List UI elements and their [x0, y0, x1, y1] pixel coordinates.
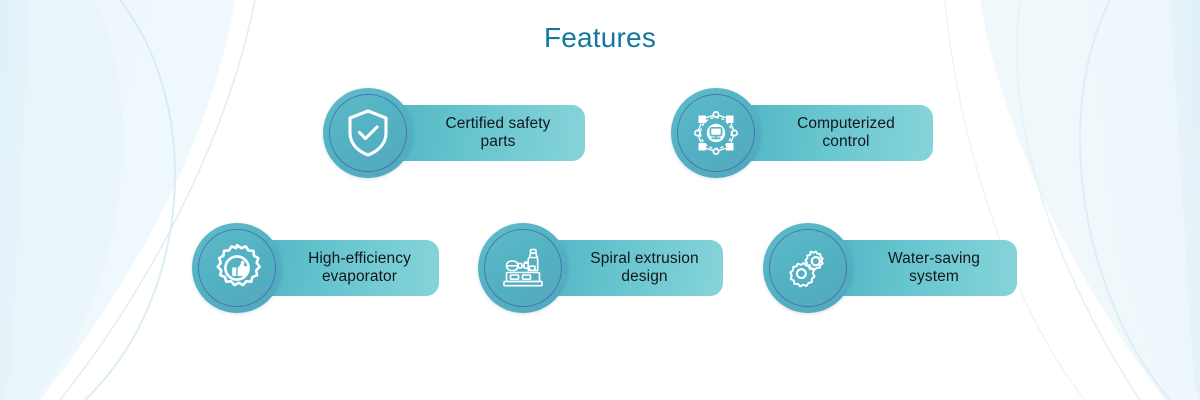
feature-label: Certified safety parts — [446, 115, 551, 152]
feature-label: Spiral extrusion design — [590, 250, 698, 287]
background-waves — [0, 0, 1200, 400]
feature-icon-circle — [192, 223, 282, 313]
features-infographic: Features Certified safety parts Computer… — [0, 0, 1200, 400]
feature-icon-circle — [671, 88, 761, 178]
extrusion-machine-icon — [497, 242, 549, 294]
feature-label: Water-saving system — [888, 250, 980, 287]
double-gear-icon — [782, 242, 834, 294]
feature-badge-computerized-control[interactable]: Computerized control — [671, 88, 933, 178]
gear-thumbs-up-icon — [211, 242, 263, 294]
shield-check-icon — [342, 107, 394, 159]
page-title: Features — [0, 22, 1200, 54]
feature-label: High-efficiency evaporator — [308, 250, 411, 287]
feature-badge-high-efficiency-evaporator[interactable]: High-efficiency evaporator — [192, 223, 444, 313]
feature-badge-spiral-extrusion-design[interactable]: Spiral extrusion design — [478, 223, 728, 313]
feature-badge-water-saving-system[interactable]: Water-saving system — [763, 223, 1019, 313]
feature-icon-circle — [323, 88, 413, 178]
feature-badge-certified-safety-parts[interactable]: Certified safety parts — [323, 88, 585, 178]
feature-icon-circle — [478, 223, 568, 313]
feature-label: Computerized control — [797, 115, 895, 152]
network-computer-icon — [690, 107, 742, 159]
feature-icon-circle — [763, 223, 853, 313]
